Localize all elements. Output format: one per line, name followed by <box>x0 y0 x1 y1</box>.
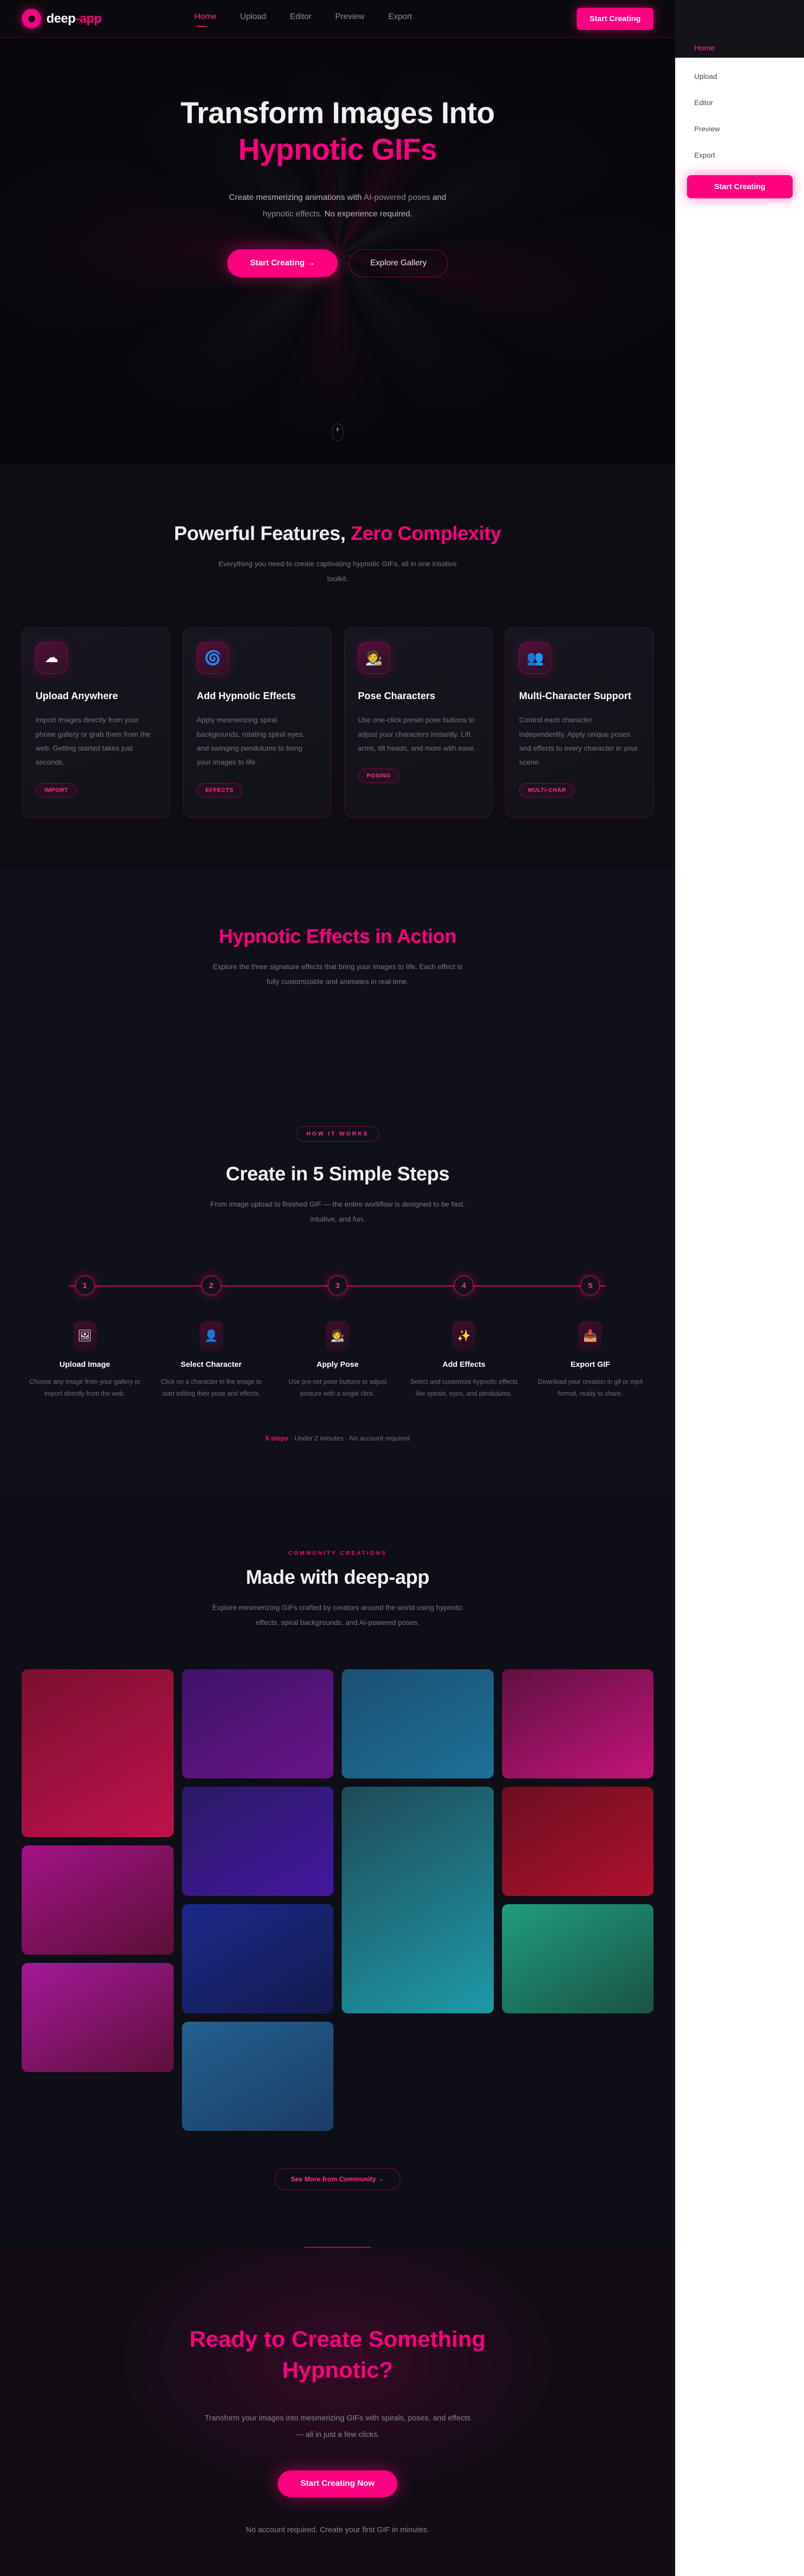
hero-explore-gallery-button[interactable]: Explore Gallery <box>349 249 447 277</box>
header-start-creating-button[interactable]: Start Creating <box>577 8 654 30</box>
how-it-works-subtitle: From image upload to finished GIF — the … <box>209 1197 466 1227</box>
feature-card-grid: ☁ Upload Anywhere Import images directly… <box>22 627 654 818</box>
hero-start-creating-button[interactable]: Start Creating → <box>227 249 338 277</box>
feature-card[interactable]: 🌀 Add Hypnotic Effects Apply mesmerizing… <box>183 627 331 818</box>
how-it-works-title: Create in 5 Simple Steps <box>22 1163 654 1185</box>
gallery-tile[interactable] <box>182 2022 334 2131</box>
how-it-works-eyebrow: HOW IT WORKS <box>296 1126 380 1142</box>
feature-card-body: Import images directly from your phone g… <box>36 713 156 769</box>
effects-section: Hypnotic Effects in Action Explore the t… <box>0 869 675 1077</box>
gallery-tile[interactable] <box>342 1787 494 2013</box>
cta-subtitle: Transform your images into mesmerizing G… <box>201 2410 474 2443</box>
gallery-tile[interactable] <box>182 1669 334 1778</box>
step-node[interactable]: 5 <box>580 1276 600 1295</box>
step-node[interactable]: 3 <box>328 1276 347 1295</box>
nav-item-home[interactable]: Home <box>194 12 216 25</box>
primary-nav: Home Upload Editor Preview Export <box>194 12 412 25</box>
step-card-title: Export GIF <box>534 1360 646 1369</box>
gallery-tile[interactable] <box>22 1845 174 1955</box>
step-card: 🧑‍🎨 Apply Pose Use pre-set pose buttons … <box>274 1321 400 1400</box>
spiral-logo-icon <box>22 9 41 28</box>
feature-card-tag: EFFECTS <box>197 783 242 798</box>
gallery-tile[interactable] <box>502 1669 654 1778</box>
step-card: 📥 Export GIF Download your creation in g… <box>527 1321 654 1400</box>
step-card-body: Choose any image from your gallery or im… <box>29 1376 141 1400</box>
steps-summary-count: 5 steps <box>265 1434 289 1442</box>
step-card: 👤 Select Character Click on a character … <box>148 1321 274 1400</box>
gallery-tile[interactable] <box>342 1669 494 1778</box>
effects-subtitle: Explore the three signature effects that… <box>209 959 466 990</box>
step-card-body: Use pre-set pose buttons to adjust postu… <box>281 1376 393 1400</box>
community-gallery-section: COMMUNITY CREATIONS Made with deep-app E… <box>0 1494 675 2247</box>
steps-summary-rest: · Under 2 minutes · No account required <box>289 1434 410 1442</box>
nav-item-upload[interactable]: Upload <box>240 12 266 25</box>
brand-name: deep-app <box>46 11 102 26</box>
step-card-title: Upload Image <box>29 1360 141 1369</box>
step-card-title: Add Effects <box>408 1360 520 1369</box>
step-card: 🖼 Upload Image Choose any image from you… <box>22 1321 148 1400</box>
feature-card-title: Pose Characters <box>358 690 479 703</box>
site-header: deep-app Home Upload Editor Preview Expo… <box>0 0 675 38</box>
step-card-body: Select and customize hypnotic effects li… <box>408 1376 520 1400</box>
features-subtitle: Everything you need to create captivatin… <box>209 556 466 587</box>
feature-card-body: Apply mesmerizing spiral backgrounds, ro… <box>197 713 317 769</box>
step-card-row: 🖼 Upload Image Choose any image from you… <box>22 1321 654 1400</box>
mobile-menu-start-creating-button[interactable]: Start Creating <box>687 175 793 198</box>
features-section: Powerful Features, Zero Complexity Every… <box>0 464 675 869</box>
step-card-title: Select Character <box>155 1360 267 1369</box>
cta-start-creating-now-button[interactable]: Start Creating Now <box>278 2470 397 2497</box>
step-node[interactable]: 2 <box>202 1276 221 1295</box>
mobile-menu-item-editor[interactable]: Editor <box>694 98 791 107</box>
feature-card-title: Add Hypnotic Effects <box>197 690 317 703</box>
cta-note: No account required. Create your first G… <box>201 2522 474 2538</box>
spiral-effect-icon: 🌀 <box>197 642 229 674</box>
mobile-menu-item-export[interactable]: Export <box>694 151 791 159</box>
sparkles-icon: ✨ <box>452 1321 476 1351</box>
artist-pose-icon: 🧑‍🎨 <box>358 642 390 674</box>
feature-card-title: Upload Anywhere <box>36 690 156 703</box>
feature-card-tag: POSING <box>358 769 399 783</box>
step-timeline: 1 2 3 4 5 <box>22 1276 654 1296</box>
step-card-body: Click on a character in the image to sta… <box>155 1376 267 1400</box>
artist-pose-icon: 🧑‍🎨 <box>326 1321 349 1351</box>
gallery-title: Made with deep-app <box>22 1567 654 1589</box>
feature-card-tag: MULTI-CHAR <box>519 783 575 798</box>
nav-item-editor[interactable]: Editor <box>290 12 312 25</box>
framed-picture-icon: 🖼 <box>73 1321 97 1351</box>
mobile-menu-item-home[interactable]: Home <box>694 44 715 53</box>
step-node[interactable]: 4 <box>454 1276 474 1295</box>
nav-item-preview[interactable]: Preview <box>335 12 364 25</box>
feature-card-tag: IMPORT <box>36 783 77 798</box>
feature-card-body: Use one-click preset pose buttons to adj… <box>358 713 479 755</box>
see-more-community-button[interactable]: See More from Community → <box>275 2168 400 2190</box>
gallery-subtitle: Explore mesmerizing GIFs crafted by crea… <box>209 1600 466 1631</box>
gallery-tile[interactable] <box>182 1904 334 2013</box>
mobile-menu-list: Upload Editor Preview Export <box>694 72 791 177</box>
hero-subtitle: Create mesmerizing animations with AI-po… <box>216 190 459 223</box>
feature-card[interactable]: 👥 Multi-Character Support Control each c… <box>505 627 654 818</box>
step-card: ✨ Add Effects Select and customize hypno… <box>401 1321 527 1400</box>
hero-section: Transform Images Into Hypnotic GIFs Crea… <box>0 38 675 464</box>
feature-card-body: Control each character independently. Ap… <box>519 713 640 769</box>
feature-card[interactable]: ☁ Upload Anywhere Import images directly… <box>22 627 170 818</box>
feature-card-title: Multi-Character Support <box>519 690 640 703</box>
person-silhouette-icon: 👤 <box>199 1321 223 1351</box>
how-it-works-section: HOW IT WORKS Create in 5 Simple Steps Fr… <box>0 1077 675 1494</box>
gallery-tile[interactable] <box>502 1787 654 1896</box>
features-title: Powerful Features, Zero Complexity <box>22 523 654 545</box>
cta-title: Ready to Create Something Hypnotic? <box>142 2324 533 2385</box>
step-card-body: Download your creation in gif or mp4 for… <box>534 1376 646 1400</box>
scroll-mouse-icon <box>332 423 343 441</box>
brand-logo[interactable]: deep-app <box>22 9 102 28</box>
steps-summary: 5 steps · Under 2 minutes · No account r… <box>22 1434 654 1442</box>
gallery-tile[interactable] <box>502 1904 654 2013</box>
gallery-tile[interactable] <box>22 1963 174 2072</box>
hero-title: Transform Images Into Hypnotic GIFs <box>180 97 494 167</box>
nav-item-export[interactable]: Export <box>388 12 412 25</box>
gallery-tile[interactable] <box>22 1669 174 1837</box>
multi-user-icon: 👥 <box>519 642 551 674</box>
inbox-download-icon: 📥 <box>578 1321 602 1351</box>
gallery-eyebrow: COMMUNITY CREATIONS <box>22 1550 654 1556</box>
effects-title: Hypnotic Effects in Action <box>22 926 654 948</box>
mobile-menu-item-upload[interactable]: Upload <box>694 72 791 80</box>
step-card-title: Apply Pose <box>281 1360 393 1369</box>
feature-card[interactable]: 🧑‍🎨 Pose Characters Use one-click preset… <box>344 627 493 818</box>
step-node[interactable]: 1 <box>75 1276 95 1295</box>
mobile-menu-item-preview[interactable]: Preview <box>694 125 791 133</box>
mobile-menu-panel: Home Upload Editor Preview Export Start … <box>675 0 804 2576</box>
cloud-upload-icon: ☁ <box>36 642 68 674</box>
gallery-grid <box>22 1669 654 2131</box>
final-cta-section: Ready to Create Something Hypnotic? Tran… <box>0 2247 675 2576</box>
gallery-tile[interactable] <box>182 1787 334 1896</box>
